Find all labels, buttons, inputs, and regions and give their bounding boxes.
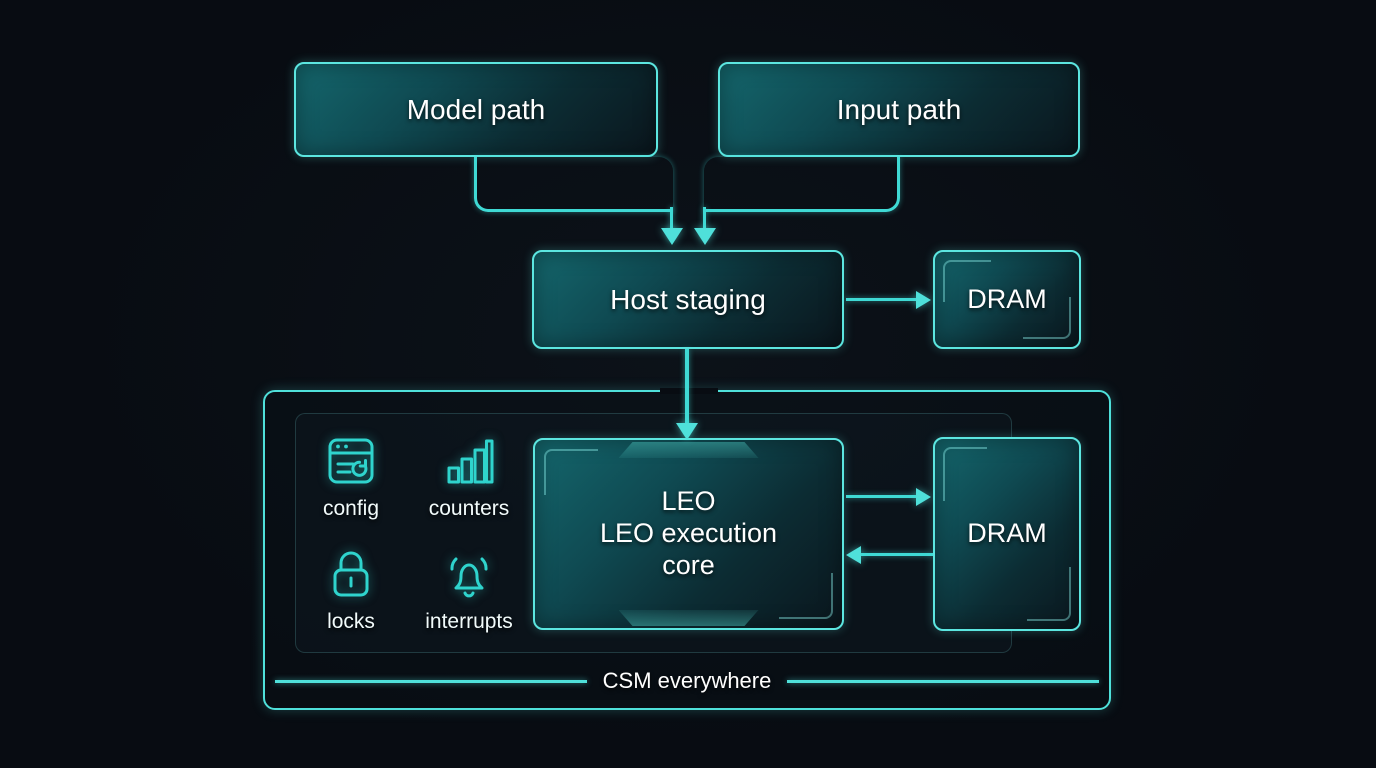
model-path-box[interactable]: Model path <box>294 62 658 157</box>
dram-bottom-bracket-top-left <box>943 447 987 501</box>
arrowhead-input-to-staging <box>694 228 716 245</box>
host-staging-box[interactable]: Host staging <box>532 250 844 349</box>
dram-bottom-bracket-bottom-right <box>1027 567 1071 621</box>
arrowhead-core-to-dram <box>916 488 931 506</box>
arrowhead-staging-to-dram <box>916 291 931 309</box>
core-notch-top <box>619 442 759 458</box>
footer-rule-right <box>787 680 1099 683</box>
counters-icon-cell[interactable]: counters <box>417 432 521 521</box>
csm-everywhere-footer: CSM everywhere <box>263 664 1111 698</box>
arrowhead-staging-to-core <box>676 423 698 440</box>
dram-bottom-box[interactable]: DRAM <box>933 437 1081 631</box>
input-path-label: Input path <box>837 93 962 126</box>
core-notch-bottom <box>619 610 759 626</box>
connector-core-to-dram <box>846 495 918 498</box>
connector-staging-to-dram <box>846 298 918 301</box>
arrowhead-model-to-staging <box>661 228 683 245</box>
config-icon-cell[interactable]: config <box>299 432 403 521</box>
config-icon <box>322 432 380 490</box>
core-bracket-bottom-right <box>779 573 833 619</box>
core-bracket-top-left <box>544 449 598 495</box>
interrupts-icon-label: interrupts <box>417 610 521 634</box>
csm-everywhere-label: CSM everywhere <box>603 668 772 694</box>
leo-core-line3: core <box>662 550 715 580</box>
dram-top-label: DRAM <box>967 284 1047 316</box>
input-path-box[interactable]: Input path <box>718 62 1080 157</box>
lock-icon <box>322 545 380 603</box>
bell-icon <box>440 545 498 603</box>
locks-icon-label: locks <box>299 610 403 634</box>
leo-core-line2: LEO execution <box>600 518 777 548</box>
model-path-label: Model path <box>407 93 546 126</box>
dram-top-box[interactable]: DRAM <box>933 250 1081 349</box>
diagram-canvas: Model path Input path Host staging DRAM <box>0 0 1376 768</box>
connector-model-to-staging <box>474 157 673 212</box>
counters-icon <box>440 432 498 490</box>
arrowhead-dram-to-core <box>846 546 861 564</box>
leo-core-line1: LEO <box>661 486 715 516</box>
interrupts-icon-cell[interactable]: interrupts <box>417 545 521 634</box>
csm-border-gap <box>660 388 718 394</box>
footer-rule-left <box>275 680 587 683</box>
connector-input-to-staging <box>704 157 900 212</box>
leo-core-label: LEO LEO execution core <box>600 486 777 582</box>
leo-execution-core-box[interactable]: LEO LEO execution core <box>533 438 844 630</box>
connector-dram-to-core <box>861 553 933 556</box>
config-icon-label: config <box>299 497 403 521</box>
dram-bottom-label: DRAM <box>967 518 1047 550</box>
locks-icon-cell[interactable]: locks <box>299 545 403 634</box>
host-staging-label: Host staging <box>610 283 766 316</box>
counters-icon-label: counters <box>417 497 521 521</box>
